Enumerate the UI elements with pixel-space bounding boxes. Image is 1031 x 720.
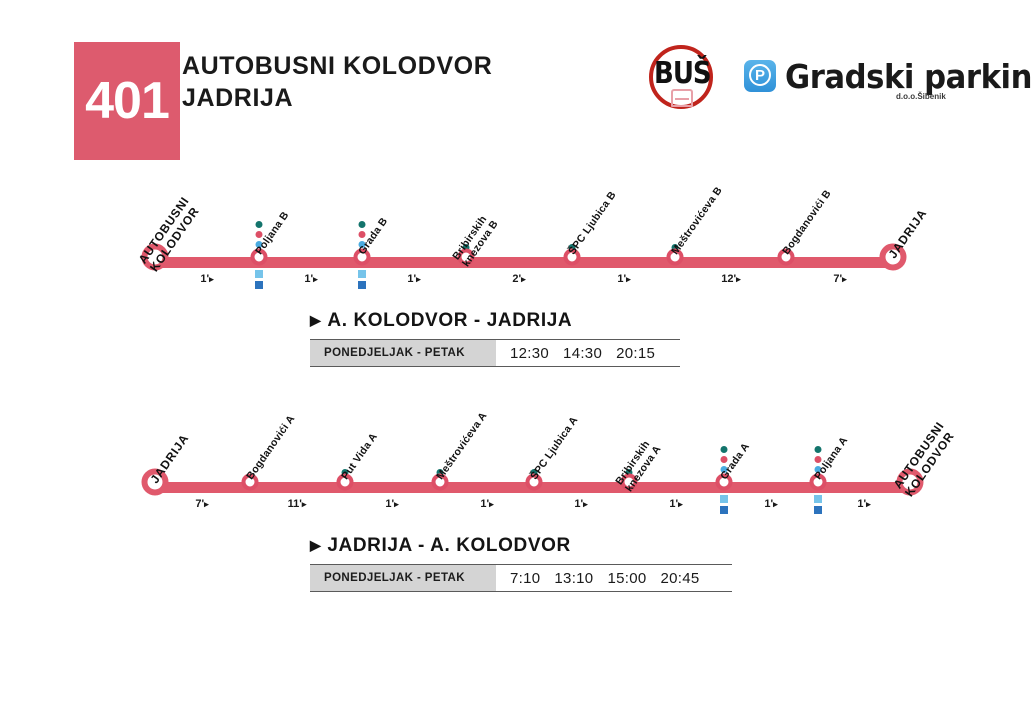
direction-arrow-icon: ▸ bbox=[209, 274, 214, 284]
timetable-title: ▶JADRIJA - A. KOLODVOR bbox=[310, 535, 732, 557]
stop-label-line: Meštrovićeva B bbox=[669, 185, 725, 257]
timetable-times: 12:3014:3020:15 bbox=[496, 340, 669, 366]
travel-interval: 1'▸ bbox=[200, 273, 213, 285]
direction-arrow-icon: ▸ bbox=[842, 274, 847, 284]
stop-label-line: Bogdanovići A bbox=[244, 413, 297, 482]
stop-label-line: Bogdanovići B bbox=[780, 188, 833, 257]
stop-label-line: JADRIJA bbox=[148, 431, 192, 486]
triangle-right-icon: ▶ bbox=[310, 537, 321, 554]
page-title: AUTOBUSNI KOLODVOR JADRIJA bbox=[182, 50, 612, 114]
transfer-marker-squares bbox=[255, 270, 263, 292]
timetable-table: PONEDJELJAK - PETAK12:3014:3020:15 bbox=[310, 339, 680, 367]
stop-label: Meštrovićeva A bbox=[434, 410, 489, 482]
timetable: ▶A. KOLODVOR - JADRIJAPONEDJELJAK - PETA… bbox=[310, 310, 680, 367]
stop-label: ŠPC Ljubica B bbox=[566, 189, 618, 257]
stop-label: JADRIJA bbox=[886, 206, 930, 261]
stop-label-line: Put Vida A bbox=[339, 431, 380, 482]
marker-square-light bbox=[720, 495, 728, 503]
marker-square-dark bbox=[255, 281, 263, 289]
stop-label-line: Meštrovićeva A bbox=[434, 410, 489, 482]
marker-dot-green bbox=[721, 446, 728, 453]
departure-time: 7:10 bbox=[510, 570, 540, 587]
route-number-badge: 401 bbox=[74, 42, 180, 160]
direction-arrow-icon: ▸ bbox=[302, 499, 307, 509]
departure-time: 20:45 bbox=[661, 570, 700, 587]
travel-interval: 1'▸ bbox=[574, 498, 587, 510]
marker-square-dark bbox=[814, 506, 822, 514]
bus-company-logo: BUŠ bbox=[649, 45, 723, 119]
direction-block-inbound: JADRIJABogdanovići APut Vida AMeštroviće… bbox=[0, 410, 1031, 600]
timetable-table: PONEDJELJAK - PETAK7:1013:1015:0020:45 bbox=[310, 564, 732, 592]
travel-interval: 1'▸ bbox=[385, 498, 398, 510]
timetable-title-text: A. KOLODVOR - JADRIJA bbox=[327, 310, 572, 331]
direction-arrow-icon: ▸ bbox=[583, 499, 588, 509]
marker-square-light bbox=[255, 270, 263, 278]
marker-square-light bbox=[358, 270, 366, 278]
timetable-times: 7:1013:1015:0020:45 bbox=[496, 565, 714, 591]
route-title-line-2: JADRIJA bbox=[182, 82, 612, 114]
travel-interval: 7'▸ bbox=[195, 498, 208, 510]
stop-label: Bogdanovići A bbox=[244, 413, 297, 482]
departure-time: 13:10 bbox=[554, 570, 593, 587]
direction-arrow-icon: ▸ bbox=[736, 274, 741, 284]
triangle-right-icon: ▶ bbox=[310, 312, 321, 329]
timetable: ▶JADRIJA - A. KOLODVORPONEDJELJAK - PETA… bbox=[310, 535, 732, 592]
direction-arrow-icon: ▸ bbox=[678, 499, 683, 509]
transfer-marker-squares bbox=[358, 270, 366, 292]
route-title-line-1: AUTOBUSNI KOLODVOR bbox=[182, 50, 612, 82]
transfer-marker-squares bbox=[720, 495, 728, 517]
parking-logo-subtitle: d.o.o.Šibenik bbox=[896, 92, 946, 101]
direction-arrow-icon: ▸ bbox=[489, 499, 494, 509]
direction-block-outbound: AUTOBUSNIKOLODVORPoljana BGrada BBribirs… bbox=[0, 185, 1031, 375]
bus-logo-text: BUŠ bbox=[654, 57, 710, 92]
stop-label: Meštrovićeva B bbox=[669, 185, 725, 257]
marker-dot-green bbox=[815, 446, 822, 453]
marker-dot-green bbox=[256, 221, 263, 228]
stop-label: AUTOBUSNIKOLODVOR bbox=[891, 420, 959, 500]
stop-label-line: ŠPC Ljubica B bbox=[566, 189, 618, 257]
travel-interval: 1'▸ bbox=[857, 498, 870, 510]
travel-interval: 1'▸ bbox=[617, 273, 630, 285]
transfer-marker-squares bbox=[814, 495, 822, 517]
travel-interval: 7'▸ bbox=[833, 273, 846, 285]
bus-vehicle-icon bbox=[671, 89, 693, 107]
stop-label-line: ŠPC Ljubica A bbox=[528, 415, 580, 482]
timetable-title-text: JADRIJA - A. KOLODVOR bbox=[327, 535, 570, 556]
timetable-title: ▶A. KOLODVOR - JADRIJA bbox=[310, 310, 680, 332]
travel-interval: 2'▸ bbox=[512, 273, 525, 285]
route-number: 401 bbox=[85, 75, 169, 127]
route-line: JADRIJABogdanovići APut Vida AMeštroviće… bbox=[0, 410, 1031, 530]
direction-arrow-icon: ▸ bbox=[416, 274, 421, 284]
timetable-day-label: PONEDJELJAK - PETAK bbox=[310, 340, 496, 366]
departure-time: 15:00 bbox=[607, 570, 646, 587]
travel-interval: 1'▸ bbox=[304, 273, 317, 285]
travel-interval: 11'▸ bbox=[288, 498, 307, 510]
stop-label: JADRIJA bbox=[148, 431, 192, 486]
stop-label: Put Vida A bbox=[339, 431, 380, 482]
route-line: AUTOBUSNIKOLODVORPoljana BGrada BBribirs… bbox=[0, 185, 1031, 305]
travel-interval: 1'▸ bbox=[669, 498, 682, 510]
stop-label: ŠPC Ljubica A bbox=[528, 415, 580, 482]
travel-interval: 12'▸ bbox=[721, 273, 740, 285]
parking-p-icon: P bbox=[744, 60, 776, 92]
direction-arrow-icon: ▸ bbox=[626, 274, 631, 284]
travel-interval: 1'▸ bbox=[764, 498, 777, 510]
marker-square-light bbox=[814, 495, 822, 503]
page-header: 401 AUTOBUSNI KOLODVOR JADRIJA BUŠ P Gra… bbox=[0, 0, 1031, 175]
departure-time: 14:30 bbox=[563, 345, 602, 362]
direction-arrow-icon: ▸ bbox=[773, 499, 778, 509]
marker-dot-green bbox=[359, 221, 366, 228]
direction-arrow-icon: ▸ bbox=[394, 499, 399, 509]
travel-interval: 1'▸ bbox=[480, 498, 493, 510]
timetable-day-label: PONEDJELJAK - PETAK bbox=[310, 565, 496, 591]
parking-logo-word: Gradski parking bbox=[785, 57, 1031, 96]
departure-time: 12:30 bbox=[510, 345, 549, 362]
direction-arrow-icon: ▸ bbox=[313, 274, 318, 284]
departure-time: 20:15 bbox=[616, 345, 655, 362]
stop-label-line: JADRIJA bbox=[886, 206, 930, 261]
marker-square-dark bbox=[720, 506, 728, 514]
parking-letter: P bbox=[749, 64, 771, 86]
stop-label: Bogdanovići B bbox=[780, 188, 833, 257]
travel-interval: 1'▸ bbox=[407, 273, 420, 285]
direction-arrow-icon: ▸ bbox=[866, 499, 871, 509]
marker-square-dark bbox=[358, 281, 366, 289]
direction-arrow-icon: ▸ bbox=[204, 499, 209, 509]
direction-arrow-icon: ▸ bbox=[521, 274, 526, 284]
